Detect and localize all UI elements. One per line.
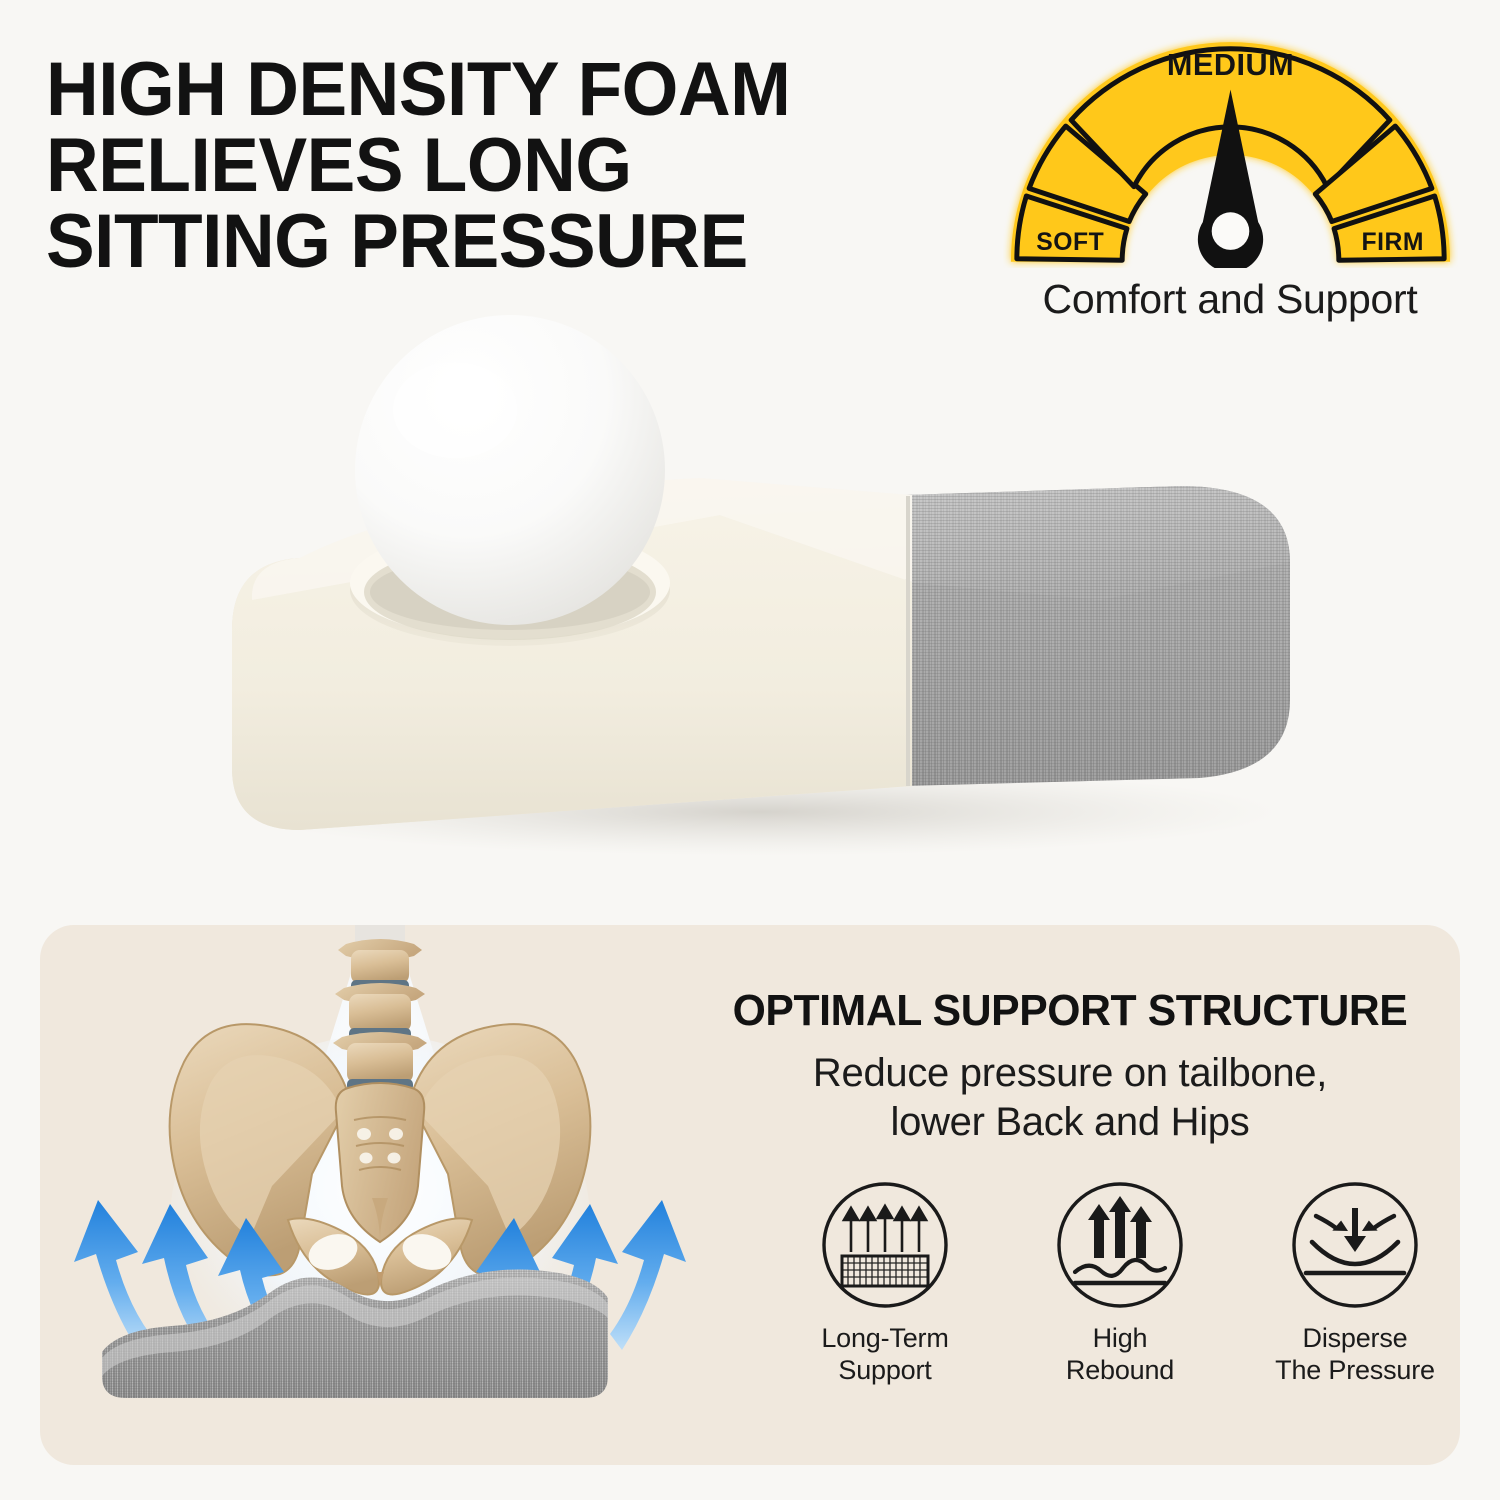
mesh-block [842, 1256, 928, 1286]
feature-label: High Rebound [1010, 1322, 1230, 1386]
gauge-needle-hub [1211, 212, 1249, 250]
cushion-fabric-texture [905, 486, 1290, 786]
panel-subtitle-line-1: Reduce pressure on tailbone, [700, 1049, 1440, 1098]
side-arrow-right [1374, 1216, 1394, 1228]
feature-label: Long-Term Support [775, 1322, 995, 1386]
gauge-label-soft: SOFT [1036, 229, 1104, 256]
panel-copy: OPTIMAL SUPPORT STRUCTURE Reduce pressur… [700, 985, 1440, 1147]
cushion-photo-illustration [0, 300, 1500, 860]
page-headline: HIGH DENSITY FOAM RELIEVES LONG SITTING … [46, 52, 939, 280]
headline-line-2: RELIEVES LONG [46, 128, 939, 204]
panel-title: OPTIMAL SUPPORT STRUCTURE [711, 985, 1429, 1037]
panel-subtitle-line-2: lower Back and Hips [700, 1098, 1440, 1147]
side-arrow-right-head [1359, 1219, 1377, 1237]
headline-line-3: SITTING PRESSURE [46, 204, 939, 280]
pressure-ball [355, 315, 665, 625]
long-term-support-icon [820, 1180, 950, 1310]
firmness-gauge-icon: MEDIUM SOFT FIRM [1003, 28, 1458, 268]
upward-arrows [1088, 1196, 1152, 1258]
side-arrow-left [1316, 1216, 1336, 1228]
side-arrow-left-head [1332, 1219, 1350, 1237]
airflow-arrow-1 [74, 1200, 150, 1350]
gauge-label-firm: FIRM [1361, 229, 1423, 256]
vertebra-1 [351, 950, 409, 984]
vertebra-2 [349, 994, 411, 1032]
pelvis-airflow-illustration [50, 925, 710, 1465]
upward-arrows [844, 1206, 926, 1252]
feature-badges: Long-Term Support High Rebound [775, 1180, 1460, 1386]
disperse-pressure-icon [1290, 1180, 1420, 1310]
feature-high-rebound: High Rebound [1010, 1180, 1230, 1386]
high-rebound-icon [1055, 1180, 1185, 1310]
pressure-ball-highlight [393, 362, 517, 458]
pelvis-airflow-icon [50, 925, 710, 1465]
airflow-arrow-6 [610, 1200, 686, 1350]
feature-label: Disperse The Pressure [1245, 1322, 1460, 1386]
panel-subtitle: Reduce pressure on tailbone, lower Back … [700, 1049, 1440, 1147]
feature-disperse-pressure: Disperse The Pressure [1245, 1180, 1460, 1386]
firmness-gauge: MEDIUM SOFT FIRM Comfort and Support [995, 28, 1465, 328]
support-structure-panel: OPTIMAL SUPPORT STRUCTURE Reduce pressur… [40, 925, 1460, 1465]
hero-product-image [0, 300, 1500, 860]
feature-long-term-support: Long-Term Support [775, 1180, 995, 1386]
wavy-surface [1075, 1260, 1165, 1276]
headline-line-1: HIGH DENSITY FOAM [46, 52, 939, 128]
gauge-label-medium: MEDIUM [1166, 48, 1293, 82]
vertebra-3 [347, 1043, 413, 1083]
